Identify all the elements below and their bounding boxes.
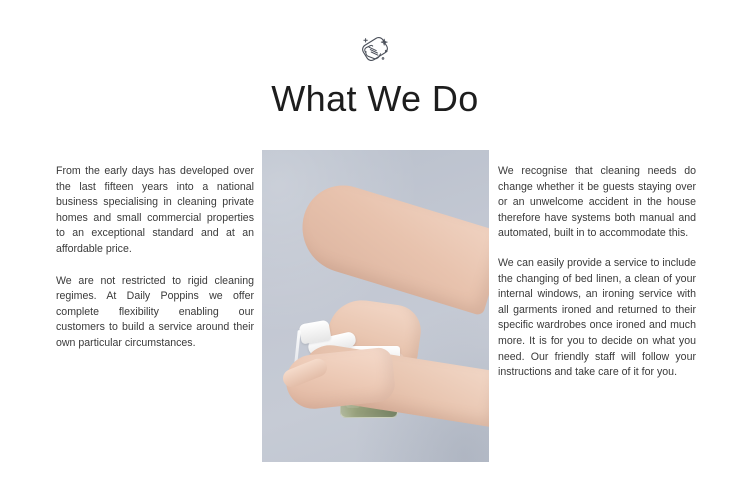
photo-scene: [262, 150, 489, 462]
page-header: What We Do: [0, 0, 750, 140]
cleaning-hand-sparkle-icon: [353, 27, 397, 71]
right-paragraph-1: We recognise that cleaning needs do chan…: [498, 164, 696, 242]
page-root: What We Do From the early days has devel…: [0, 0, 750, 500]
left-text-column: From the early days has developed over t…: [56, 164, 254, 352]
feature-photo: Hand pressing a white pump dispenser wit…: [262, 150, 489, 462]
left-paragraph-2: We are not restricted to rigid cleaning …: [56, 274, 254, 352]
content-area: From the early days has developed over t…: [0, 150, 750, 500]
left-paragraph-1: From the early days has developed over t…: [56, 164, 254, 258]
right-paragraph-2: We can easily provide a service to inclu…: [498, 256, 696, 381]
page-title: What We Do: [271, 77, 478, 121]
right-text-column: We recognise that cleaning needs do chan…: [498, 164, 696, 381]
